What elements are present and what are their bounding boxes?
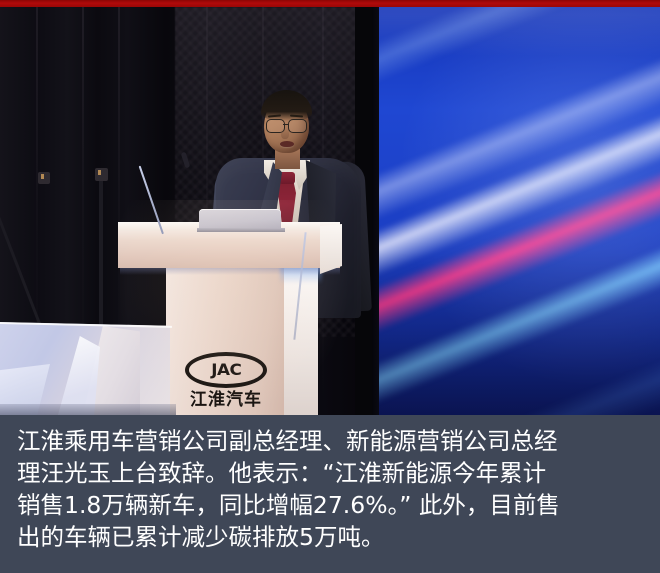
laptop-hinge <box>197 228 285 232</box>
caption-line-4: 出的车辆已累计减少碳排放5万吨。 <box>17 521 644 553</box>
red-top-band <box>0 0 660 7</box>
eyeglasses-lens-right <box>288 119 307 133</box>
caption-line-3: 销售1.8万辆新车，同比增幅27.6%。” 此外，目前售 <box>17 489 644 521</box>
mic-head-right <box>95 168 108 181</box>
caption-line-2: 理汪光玉上台致辞。他表示：“江淮新能源今年累计 <box>17 457 644 489</box>
podium-front-panel <box>118 228 340 268</box>
jac-logo-chinese-text: 江淮汽车 <box>190 392 262 409</box>
caption-bar: 江淮乘用车营销公司副总经理、新能源营销公司总经 理汪光玉上台致辞。他表示：“江淮… <box>0 415 660 573</box>
caption-line-1: 江淮乘用车营销公司副总经理、新能源营销公司总经 <box>17 425 644 457</box>
jac-logo-oval-icon: JAC <box>185 352 267 388</box>
mouth <box>280 141 294 147</box>
jac-logo-text: JAC <box>211 362 241 378</box>
eyeglasses-bridge <box>283 124 289 125</box>
stage-base-shadow <box>0 404 176 415</box>
led-display-screen <box>372 7 660 415</box>
led-screen-bezel <box>372 7 379 415</box>
podium-front-panel-side <box>320 224 342 274</box>
press-photo-with-caption: JAC 江淮汽车 江淮乘用车营销公司副总经理、新能源营销公司总经 理汪光玉上台致… <box>0 0 660 573</box>
jac-brand-logo: JAC 江淮汽车 <box>172 352 280 410</box>
mic-stand-right <box>99 178 103 340</box>
mic-head-left <box>38 172 50 184</box>
nose <box>281 128 289 139</box>
stage-photograph: JAC 江淮汽车 <box>0 0 660 415</box>
